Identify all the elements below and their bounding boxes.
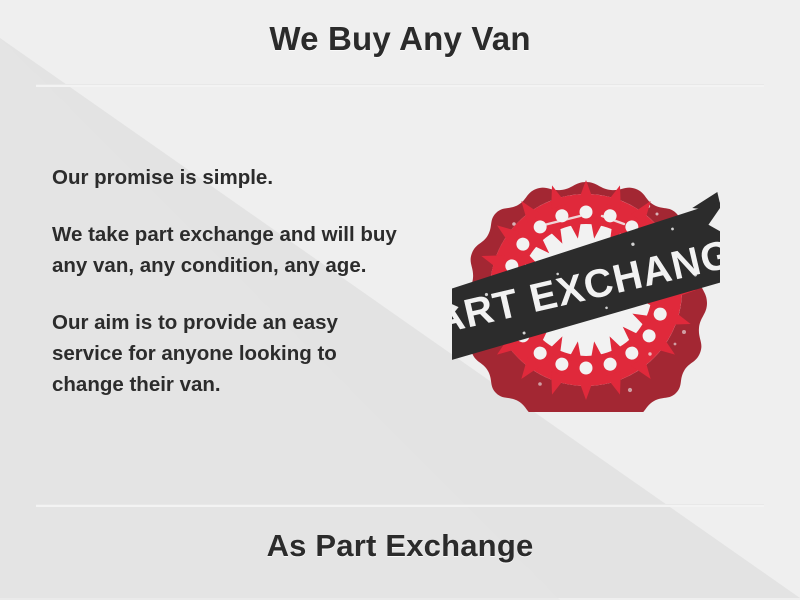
part-exchange-stamp: PART EXCHANGE: [452, 172, 720, 412]
slide-canvas: We Buy Any Van Our promise is simple. We…: [0, 0, 800, 600]
body-paragraph-2: We take part exchange and will buy any v…: [52, 219, 412, 281]
divider-top: [36, 84, 764, 87]
body-paragraph-3: Our aim is to provide an easy service fo…: [52, 307, 412, 400]
divider-bottom: [36, 504, 764, 507]
body-paragraph-1: Our promise is simple.: [52, 162, 412, 193]
page-footer-title: As Part Exchange: [0, 528, 800, 564]
body-copy: Our promise is simple. We take part exch…: [52, 162, 412, 400]
page-title: We Buy Any Van: [0, 20, 800, 58]
